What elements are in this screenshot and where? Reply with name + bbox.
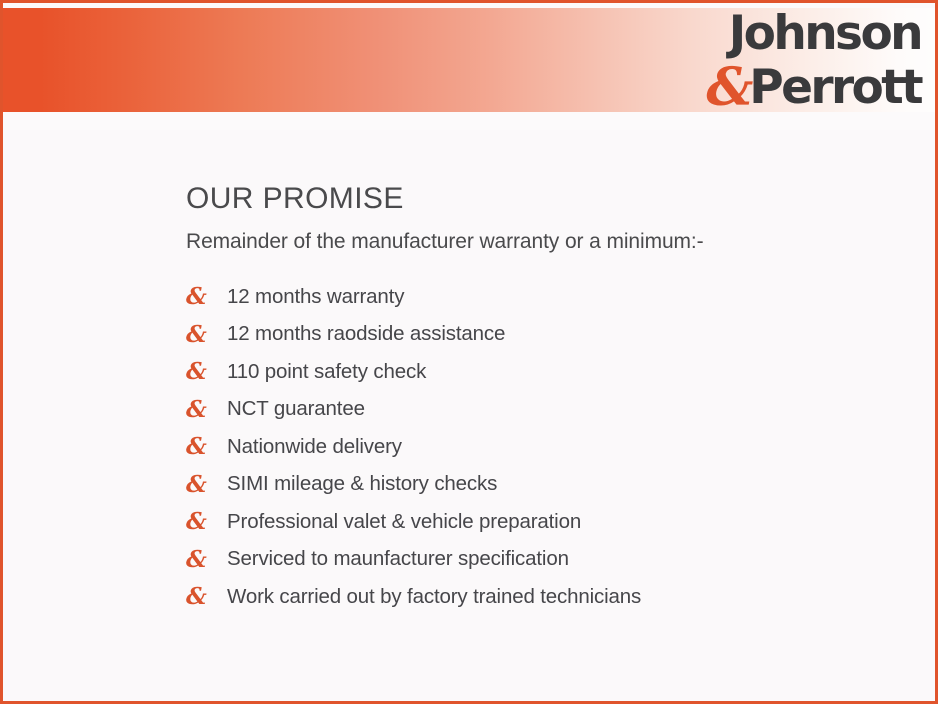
- logo-line-johnson: Johnson: [681, 7, 921, 61]
- logo-line-perrott: &Perrott: [681, 61, 921, 115]
- list-item-label: 110 point safety check: [227, 360, 641, 384]
- list-item-label: NCT guarantee: [227, 397, 641, 421]
- ampersand-bullet-icon: &: [186, 360, 227, 383]
- list-item: & Nationwide delivery: [186, 428, 641, 466]
- logo-perrott-text: Perrott: [749, 60, 921, 115]
- ampersand-bullet-icon: &: [186, 323, 227, 346]
- list-item: & 110 point safety check: [186, 353, 641, 391]
- list-item-label: Nationwide delivery: [227, 435, 641, 459]
- list-item-label: Serviced to maunfacturer specification: [227, 547, 641, 571]
- list-item: & Work carried out by factory trained te…: [186, 578, 641, 616]
- list-item: & Professional valet & vehicle preparati…: [186, 503, 641, 541]
- page-title: OUR PROMISE: [186, 182, 404, 216]
- ampersand-bullet-icon: &: [186, 398, 227, 421]
- ampersand-bullet-icon: &: [186, 285, 227, 308]
- list-item-label: SIMI mileage & history checks: [227, 472, 641, 496]
- ampersand-bullet-icon: &: [186, 473, 227, 496]
- list-item: & SIMI mileage & history checks: [186, 466, 641, 504]
- ampersand-bullet-icon: &: [186, 585, 227, 608]
- promise-list: & 12 months warranty & 12 months raodsid…: [186, 278, 641, 616]
- list-item-label: Work carried out by factory trained tech…: [227, 585, 641, 609]
- list-item-label: Professional valet & vehicle preparation: [227, 510, 641, 534]
- list-item: & 12 months warranty: [186, 278, 641, 316]
- list-item-label: 12 months warranty: [227, 285, 641, 309]
- list-item: & 12 months raodside assistance: [186, 316, 641, 354]
- list-item: & Serviced to maunfacturer specification: [186, 541, 641, 579]
- promise-subtitle: Remainder of the manufacturer warranty o…: [186, 230, 704, 254]
- list-item-label: 12 months raodside assistance: [227, 322, 641, 346]
- ampersand-bullet-icon: &: [186, 548, 227, 571]
- logo-ampersand-icon: &: [706, 57, 749, 118]
- list-item: & NCT guarantee: [186, 391, 641, 429]
- promo-card: Johnson &Perrott OUR PROMISE Remainder o…: [0, 0, 938, 704]
- header: Johnson &Perrott: [3, 3, 935, 130]
- ampersand-bullet-icon: &: [186, 435, 227, 458]
- ampersand-bullet-icon: &: [186, 510, 227, 533]
- johnson-and-perrott-logo: Johnson &Perrott: [681, 7, 921, 119]
- body: OUR PROMISE Remainder of the manufacture…: [3, 130, 935, 701]
